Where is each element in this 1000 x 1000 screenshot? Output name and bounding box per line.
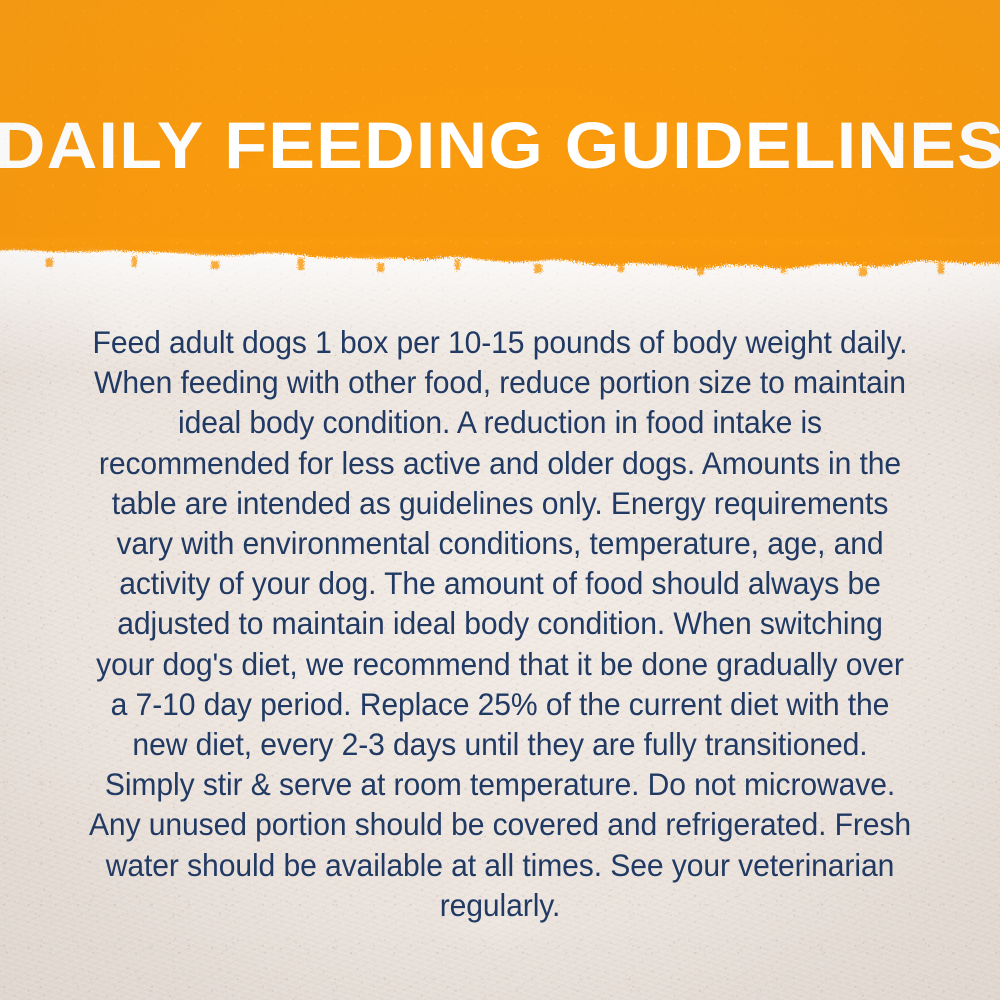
feeding-instructions-text: Feed adult dogs 1 box per 10-15 pounds o… xyxy=(86,322,915,925)
orange-header-band: DAILY FEEDING GUIDELINES xyxy=(0,0,1000,290)
feeding-guidelines-panel: DAILY FEEDING GUIDELINES Feed adult dogs… xyxy=(0,0,1000,1000)
page-title: DAILY FEEDING GUIDELINES xyxy=(0,112,1000,178)
